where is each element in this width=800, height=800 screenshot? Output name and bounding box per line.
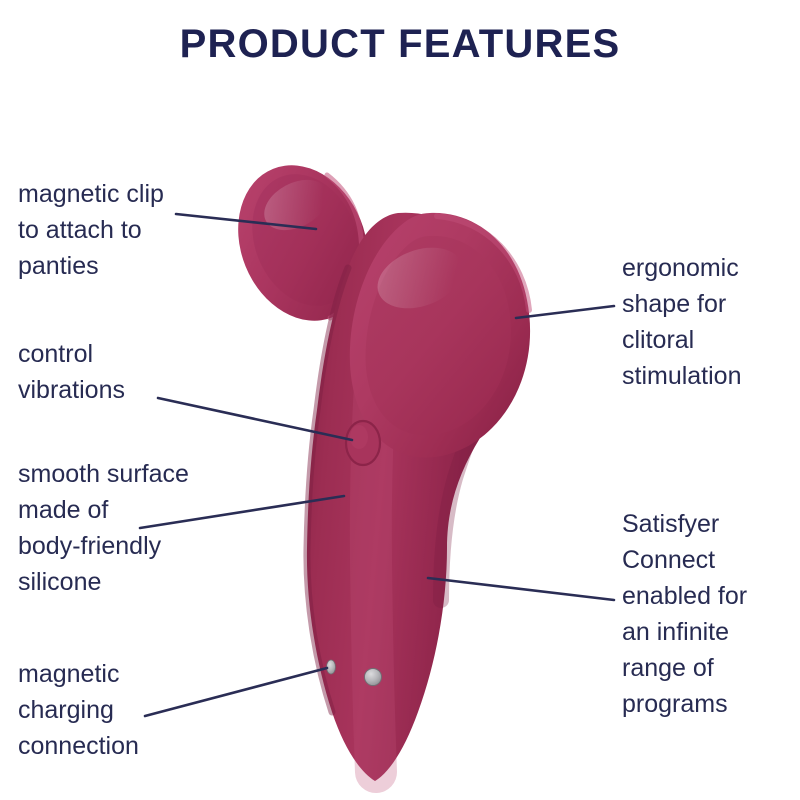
callout-magnetic-charging: magnetic charging connection xyxy=(18,656,139,764)
callout-satisfyer-connect: Satisfyer Connect enabled for an infinit… xyxy=(622,506,747,722)
product-features-diagram: PRODUCT FEATURES xyxy=(0,0,800,800)
leader-line-control-vibrations xyxy=(158,398,352,440)
leader-line-ergonomic-shape xyxy=(516,306,614,318)
callout-magnetic-clip: magnetic clip to attach to panties xyxy=(18,176,164,284)
leader-line-magnetic-charging xyxy=(145,668,327,716)
callout-smooth-surface: smooth surface made of body-friendly sil… xyxy=(18,456,189,600)
leader-line-magnetic-clip xyxy=(176,214,316,229)
leader-line-satisfyer-connect xyxy=(428,578,614,600)
callout-control-vibrations: control vibrations xyxy=(18,336,125,408)
callout-ergonomic-shape: ergonomic shape for clitoral stimulation xyxy=(622,250,742,394)
page-title: PRODUCT FEATURES xyxy=(0,22,800,67)
